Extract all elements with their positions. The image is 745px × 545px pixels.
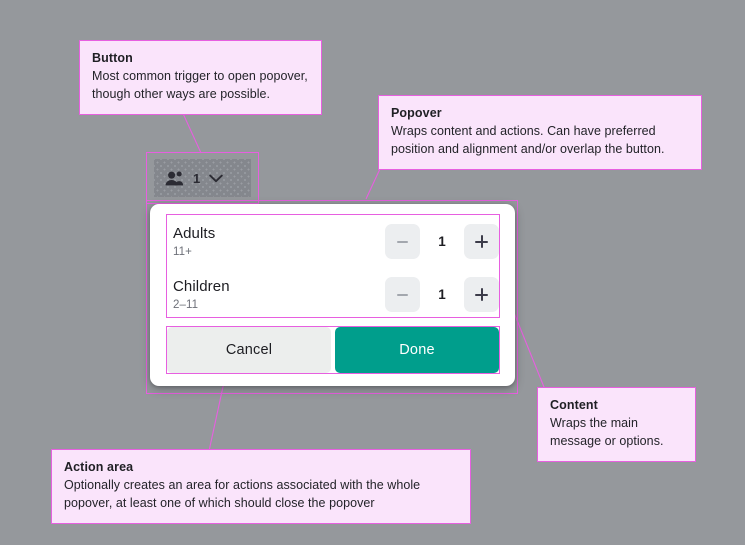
children-value: 1 — [420, 287, 464, 302]
adults-subtitle: 11+ — [173, 245, 385, 260]
adults-value: 1 — [420, 234, 464, 249]
adults-increment-button[interactable] — [464, 224, 499, 259]
connector-button-to-trigger — [181, 109, 201, 153]
callout-action-area-title: Action area — [64, 459, 458, 476]
children-labels: Children 2–11 — [167, 277, 385, 313]
children-subtitle: 2–11 — [173, 298, 385, 313]
list-item-adults: Adults 11+ 1 — [167, 218, 499, 265]
popover-action-area: Cancel Done — [167, 327, 499, 373]
guest-count-label: 1 — [193, 171, 200, 186]
callout-content: Content Wraps the main message or option… — [537, 387, 696, 462]
diagram-canvas: Button Most common trigger to open popov… — [0, 0, 745, 545]
cancel-button[interactable]: Cancel — [167, 327, 331, 373]
chevron-down-icon — [209, 174, 223, 183]
callout-popover-body: Wraps content and actions. Can have pref… — [391, 123, 689, 158]
callout-popover-title: Popover — [391, 105, 689, 122]
children-title: Children — [173, 277, 385, 296]
plus-icon — [475, 235, 488, 248]
adults-title: Adults — [173, 224, 385, 243]
callout-content-body: Wraps the main message or options. — [550, 415, 683, 450]
done-button[interactable]: Done — [335, 327, 499, 373]
minus-icon — [397, 294, 408, 296]
adults-decrement-button[interactable] — [385, 224, 420, 259]
callout-content-title: Content — [550, 397, 683, 414]
callout-button-title: Button — [92, 50, 309, 67]
people-icon — [165, 171, 184, 186]
callout-action-area: Action area Optionally creates an area f… — [51, 449, 471, 524]
plus-icon — [475, 288, 488, 301]
popover-content: Adults 11+ 1 Children 2–11 — [167, 215, 499, 317]
callout-popover: Popover Wraps content and actions. Can h… — [378, 95, 702, 170]
minus-icon — [397, 241, 408, 243]
children-quantity-stepper: 1 — [385, 277, 499, 312]
callout-button: Button Most common trigger to open popov… — [79, 40, 322, 115]
list-item-children: Children 2–11 1 — [167, 271, 499, 318]
children-decrement-button[interactable] — [385, 277, 420, 312]
adults-quantity-stepper: 1 — [385, 224, 499, 259]
callout-action-area-body: Optionally creates an area for actions a… — [64, 477, 458, 512]
children-increment-button[interactable] — [464, 277, 499, 312]
adults-labels: Adults 11+ — [167, 224, 385, 260]
callout-button-body: Most common trigger to open popover, tho… — [92, 68, 309, 103]
guests-trigger-button[interactable]: 1 — [154, 159, 251, 197]
